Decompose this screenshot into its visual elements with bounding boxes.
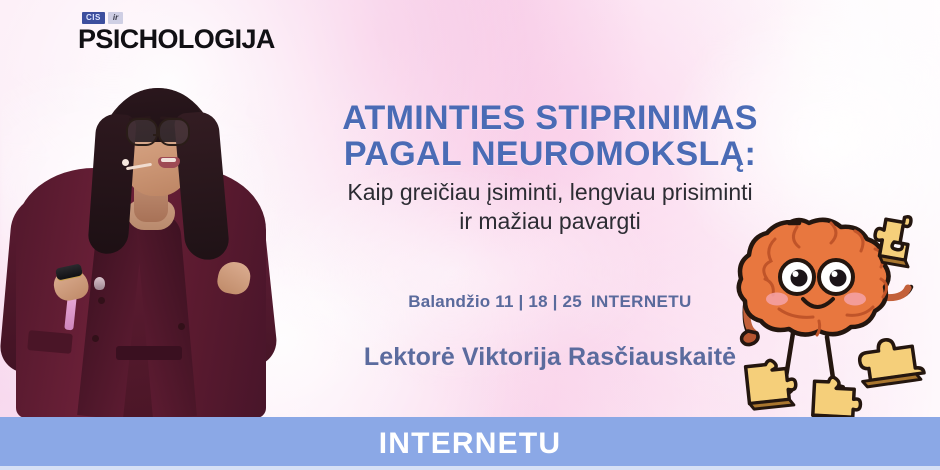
eyeglasses-bridge xyxy=(153,134,160,137)
speaker-photo xyxy=(0,0,292,418)
subheadline-line-2: ir mažiau pavargti xyxy=(258,207,842,236)
speaker-button xyxy=(92,335,99,342)
headline: ATMINTIES STIPRINIMAS PAGAL NEUROMOKSLĄ: xyxy=(270,100,830,173)
speaker-pocket xyxy=(27,330,73,354)
brain-eye-glint-left xyxy=(793,271,799,277)
brain-pupil-left xyxy=(791,270,808,287)
brand-badge: CIS xyxy=(82,12,105,24)
brand-wordmark: PSICHOLOGIJA xyxy=(78,26,275,53)
brain-eye-glint-right xyxy=(832,271,838,277)
bottom-banner-text: INTERNETU xyxy=(379,427,561,461)
event-dates: Balandžio 11 | 18 | 25 xyxy=(408,292,582,311)
subheadline: Kaip greičiau įsiminti, lengviau prisimi… xyxy=(258,178,842,237)
subheadline-line-1: Kaip greičiau įsiminti, lengviau prisimi… xyxy=(258,178,842,207)
brain-pupil-right xyxy=(830,270,847,287)
speaker-button xyxy=(178,323,185,330)
bottom-banner-underline xyxy=(0,466,940,470)
event-mode: INTERNETU xyxy=(591,292,692,311)
speaker-button xyxy=(98,297,105,304)
brain-blush-right xyxy=(844,293,866,306)
bottom-banner: INTERNETU xyxy=(0,417,940,470)
speaker-belt xyxy=(116,346,182,360)
eyeglasses-lens-left xyxy=(126,118,158,146)
headline-line-2: PAGAL NEUROMOKSLĄ: xyxy=(270,136,830,172)
brand-lockup: CIS ir PSICHOLOGIJA xyxy=(78,12,275,53)
speaker-brooch xyxy=(94,277,105,290)
headset-microphone-icon xyxy=(122,159,129,166)
poster-canvas: CIS ir PSICHOLOGIJA xyxy=(0,0,940,470)
event-dateline: Balandžio 11 | 18 | 25INTERNETU xyxy=(280,292,820,312)
eyeglasses-lens-right xyxy=(158,118,190,146)
headline-line-1: ATMINTIES STIPRINIMAS xyxy=(270,100,830,136)
lecturer-name: Lektorė Viktorija Rasčiauskaitė xyxy=(270,343,830,372)
speaker-teeth xyxy=(161,158,176,162)
puzzle-piece-ground-3 xyxy=(857,335,925,387)
brand-top-row: CIS ir xyxy=(82,12,275,24)
puzzle-piece-ground-2 xyxy=(812,376,861,417)
brand-connector: ir xyxy=(108,12,123,24)
